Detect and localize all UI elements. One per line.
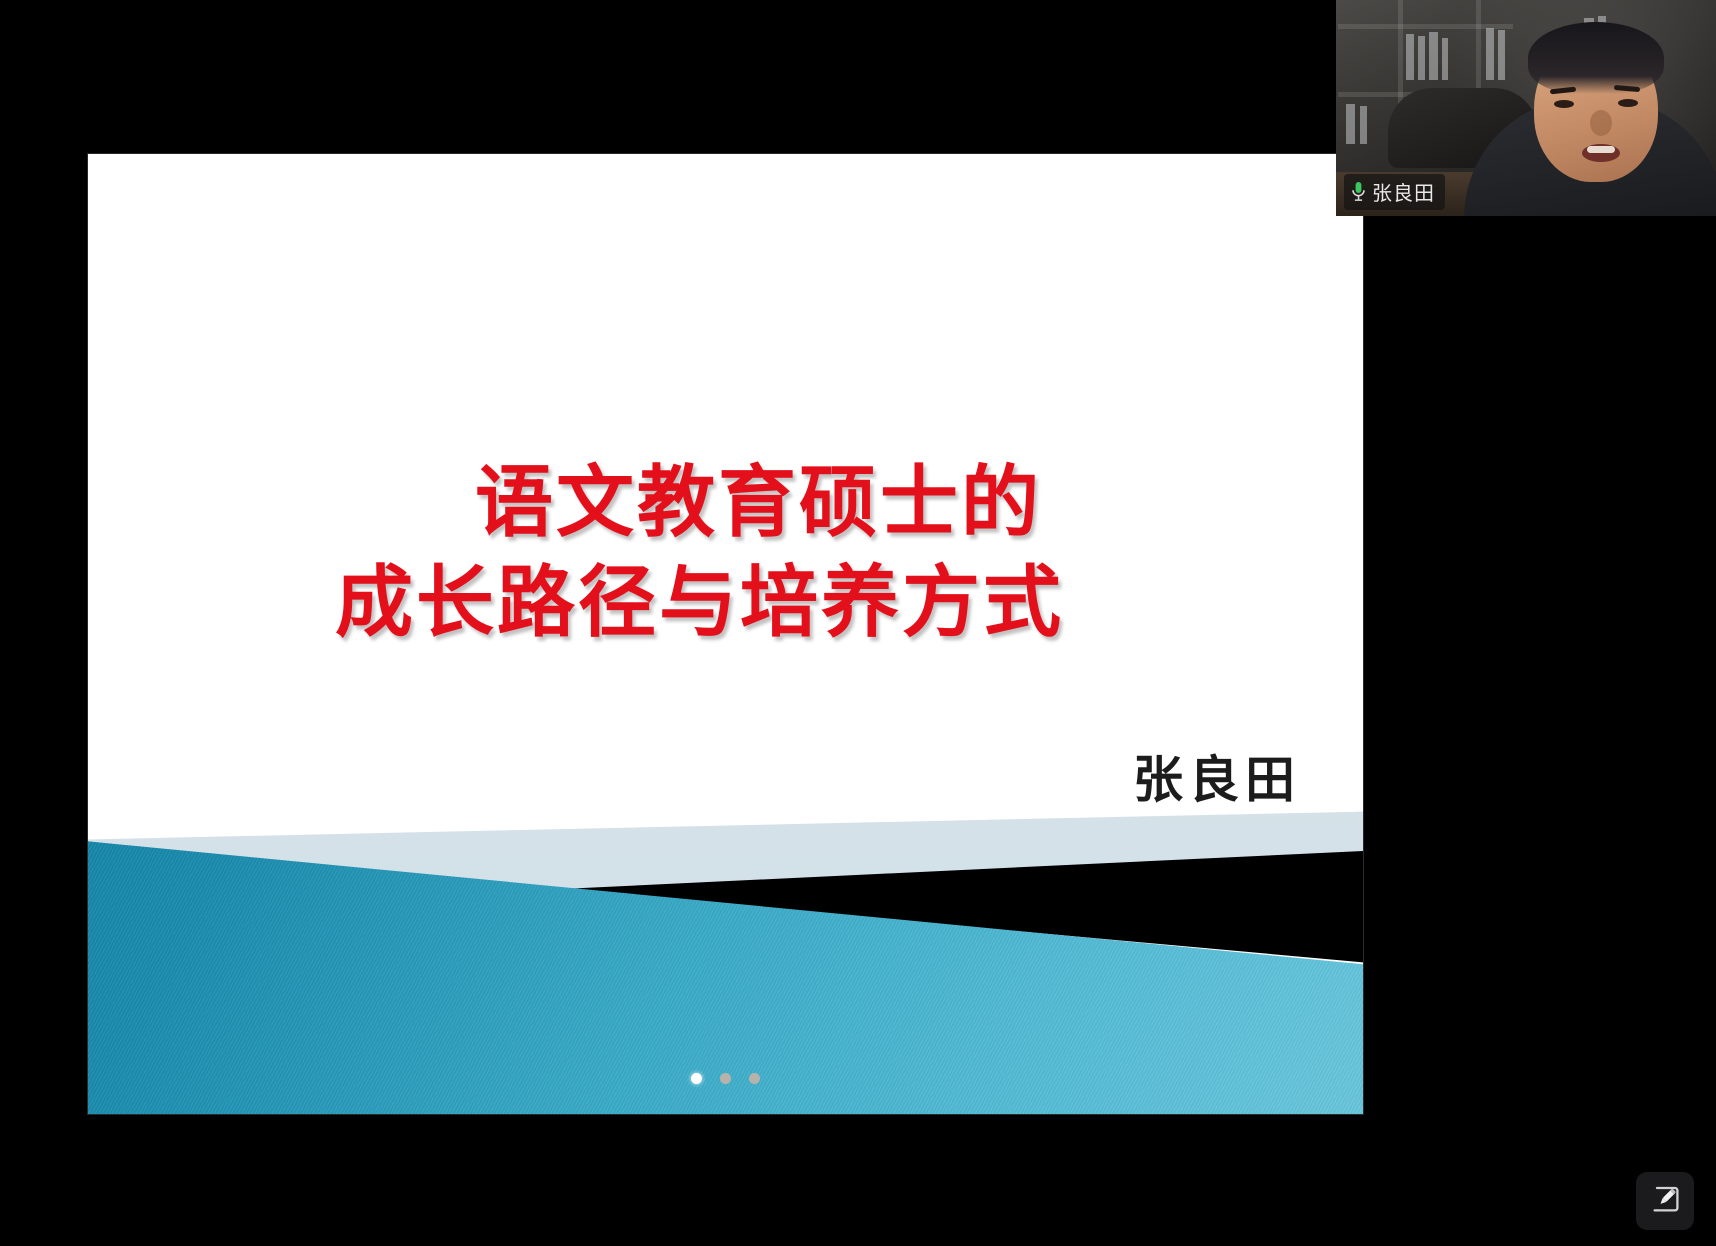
book bbox=[1418, 36, 1425, 80]
pagination-dot-1[interactable] bbox=[691, 1073, 702, 1084]
bookshelf-post bbox=[1476, 0, 1481, 96]
pencil-annotate-icon bbox=[1648, 1182, 1682, 1221]
participant-name-label: 张良田 bbox=[1372, 177, 1435, 206]
pagination-dot-2[interactable] bbox=[720, 1073, 731, 1084]
book bbox=[1346, 104, 1355, 144]
book bbox=[1486, 28, 1494, 80]
person-teeth bbox=[1587, 146, 1615, 153]
slide-title-line-1: 语文教育硕士的 bbox=[88, 454, 1311, 554]
slide-author-name: 张良田 bbox=[1133, 740, 1301, 812]
annotate-button[interactable] bbox=[1636, 1172, 1694, 1230]
book bbox=[1498, 30, 1505, 80]
slide-title: 语文教育硕士的 成长路径与培养方式 bbox=[88, 454, 1311, 654]
pagination-dot-3[interactable] bbox=[749, 1073, 760, 1084]
book bbox=[1360, 106, 1367, 144]
book bbox=[1429, 32, 1438, 80]
person-nose bbox=[1590, 110, 1612, 136]
book bbox=[1406, 34, 1414, 80]
shared-slide[interactable]: 语文教育硕士的 成长路径与培养方式 张良田 bbox=[88, 154, 1363, 1114]
slide-pagination-dots bbox=[88, 1073, 1363, 1084]
slide-title-line-2: 成长路径与培养方式 bbox=[88, 554, 1311, 654]
participant-name-badge: 张良田 bbox=[1344, 174, 1445, 210]
participant-video-tile[interactable]: 张良田 bbox=[1336, 0, 1716, 216]
screen-share-window: 语文教育硕士的 成长路径与培养方式 张良田 bbox=[0, 0, 1716, 1246]
person-hair bbox=[1528, 22, 1664, 94]
person-eye bbox=[1618, 99, 1638, 107]
book bbox=[1442, 38, 1448, 80]
microphone-icon bbox=[1351, 181, 1366, 202]
person-eye bbox=[1554, 100, 1574, 108]
bookshelf-post bbox=[1398, 0, 1403, 106]
